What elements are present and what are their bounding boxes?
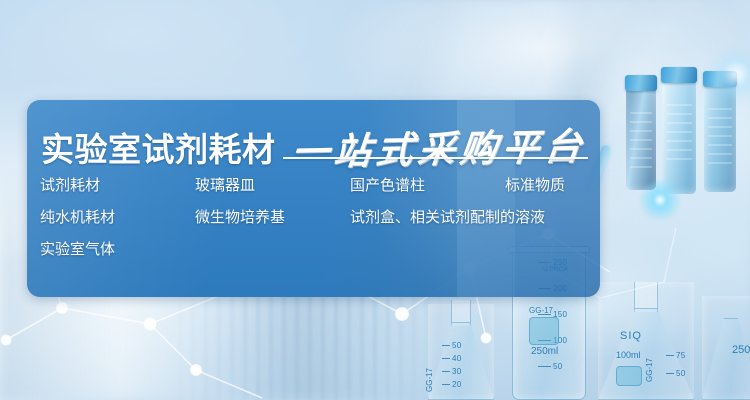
category-laboratory-gas[interactable]: 实验室气体 xyxy=(40,242,115,257)
highlight-glow xyxy=(708,46,750,102)
category-reference-material[interactable]: 标准物质 xyxy=(505,178,565,193)
vial-cap-icon xyxy=(625,75,657,91)
category-reagent-consumables[interactable]: 试剂耗材 xyxy=(40,178,100,193)
category-water-purifier-consumables[interactable]: 纯水机耗材 xyxy=(40,210,115,225)
page-title: 实验室试剂耗材 xyxy=(41,133,276,166)
category-domestic-chromatography-column[interactable]: 国产色谱柱 xyxy=(350,178,425,193)
headline: 实验室试剂耗材 一站式采购平台 xyxy=(41,118,588,180)
cryo-vial-left xyxy=(626,86,656,190)
vial-cap-icon xyxy=(661,67,697,83)
category-list: 试剂耗材 玻璃器皿 国产色谱柱 标准物质 纯水机耗材 微生物培养基 试剂盒、相关… xyxy=(40,178,592,274)
promo-banner: 50 40 30 20 GG-17 250 200 150 100 50 APP… xyxy=(0,0,750,400)
category-microbial-culture-medium[interactable]: 微生物培养基 xyxy=(195,210,285,225)
vial-label-strip xyxy=(708,108,732,164)
title-underline xyxy=(283,157,588,159)
headline-panel: 实验室试剂耗材 一站式采购平台 试剂耗材 玻璃器皿 国产色谱柱 标准物质 纯水机… xyxy=(27,100,600,297)
category-glassware[interactable]: 玻璃器皿 xyxy=(195,178,255,193)
vial-label-strip xyxy=(630,112,652,168)
blue-light-flare xyxy=(638,178,682,222)
category-row: 实验室气体 xyxy=(40,242,592,274)
cryo-vial-group xyxy=(612,52,750,202)
category-row: 试剂耗材 玻璃器皿 国产色谱柱 标准物质 xyxy=(40,178,592,210)
category-row: 纯水机耗材 微生物培养基 试剂盒、相关试剂配制的溶液 xyxy=(40,210,592,242)
category-kits-and-prepared-solutions[interactable]: 试剂盒、相关试剂配制的溶液 xyxy=(350,210,545,225)
vial-label-strip xyxy=(666,104,692,160)
cryo-vial-center xyxy=(662,78,696,194)
page-subtitle-calligraphy: 一站式采购平台 xyxy=(289,127,587,170)
